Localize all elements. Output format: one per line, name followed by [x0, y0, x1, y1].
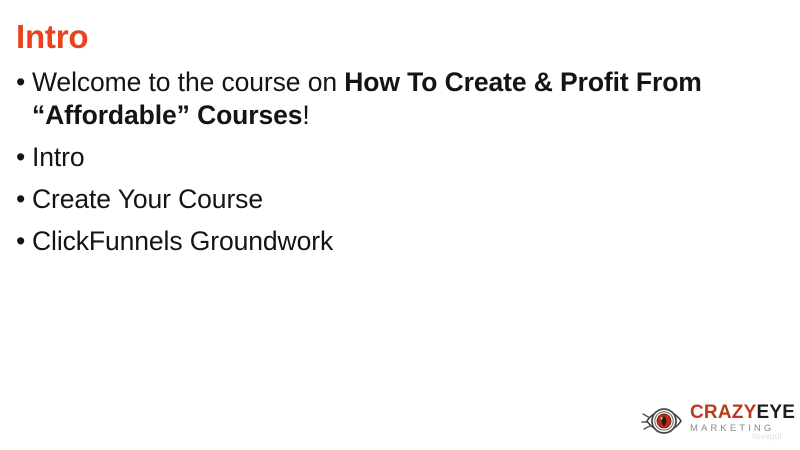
- list-item-text: ClickFunnels Groundwork: [32, 225, 784, 258]
- presentation-slide: Intro • Welcome to the course on How To …: [0, 0, 800, 450]
- bullet-marker-icon: •: [16, 66, 25, 99]
- bullet-marker-icon: •: [16, 225, 25, 258]
- eye-icon: [640, 400, 686, 440]
- logo-wordmark: CRAZYEYE MARKETING: [690, 403, 792, 435]
- list-item-text: Create Your Course: [32, 183, 784, 216]
- bullet-marker-icon: •: [16, 183, 25, 216]
- watermark: ilovepdf: [752, 432, 782, 441]
- list-item: • ClickFunnels Groundwork: [14, 225, 784, 258]
- list-item-text: Intro: [32, 141, 784, 174]
- list-item-trail: !: [302, 100, 309, 130]
- list-item: • Welcome to the course on How To Create…: [14, 66, 784, 132]
- list-item: • Create Your Course: [14, 183, 784, 216]
- logo-word-eye: EYE: [756, 402, 795, 423]
- list-item-text: Welcome to the course on How To Create &…: [32, 66, 784, 132]
- logo-name-line: CRAZYEYE: [690, 403, 792, 422]
- list-item-lead: Welcome to the course on: [32, 67, 344, 97]
- list-item: • Intro: [14, 141, 784, 174]
- bullet-marker-icon: •: [16, 141, 25, 174]
- bullet-list: • Welcome to the course on How To Create…: [14, 66, 784, 258]
- logo-word-crazy: CRAZY: [690, 402, 756, 423]
- page-title: Intro: [16, 19, 88, 55]
